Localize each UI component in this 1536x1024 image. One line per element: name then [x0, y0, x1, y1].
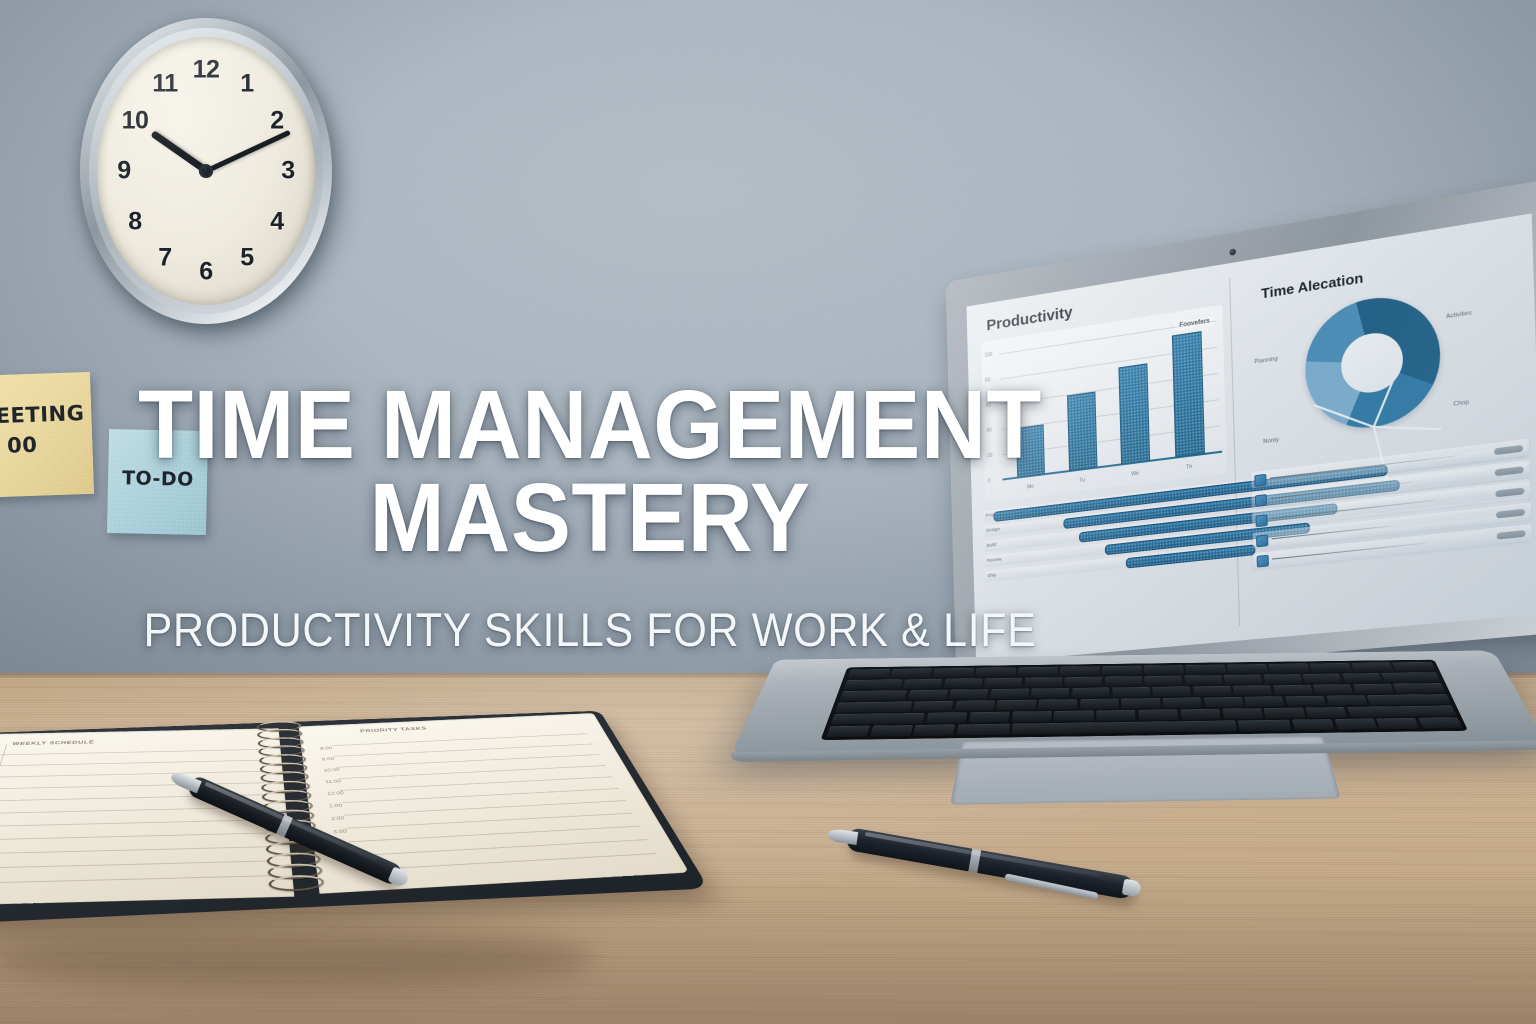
keyboard-key[interactable] [1285, 696, 1326, 707]
keyboard-key[interactable] [1065, 677, 1103, 687]
notebook-rule-line [0, 760, 262, 766]
keyboard-key[interactable] [1353, 684, 1394, 694]
keyboard-key[interactable] [1184, 675, 1223, 685]
keyboard-key[interactable] [1060, 666, 1100, 676]
notebook-time-label: 10:00 [323, 768, 340, 773]
keyboard-key[interactable] [1096, 710, 1136, 721]
keyboard-key[interactable] [1393, 662, 1436, 672]
keyboard-key[interactable] [1031, 688, 1070, 698]
keyboard-key[interactable] [912, 701, 953, 712]
checkbox-icon[interactable] [1256, 535, 1268, 548]
keyboard-key[interactable] [1393, 683, 1446, 693]
keyboard-key[interactable] [913, 725, 956, 736]
keyboard-key[interactable] [1342, 673, 1382, 683]
keyboard-key[interactable] [1080, 699, 1119, 710]
clock-face: 121234567891011 [97, 37, 315, 305]
keyboard-key[interactable] [1273, 685, 1313, 695]
laptop-keyboard[interactable] [821, 660, 1469, 740]
bar-chart-xtick: Th [1186, 464, 1192, 471]
keyboard-key[interactable] [1303, 674, 1343, 684]
notebook-time-label: 9:00 [322, 757, 335, 761]
notebook-rule-line [338, 765, 606, 779]
notebook-rule-line [346, 813, 633, 829]
keyboard-key[interactable] [948, 689, 988, 699]
wall-clock: 121234567891011 [80, 18, 342, 336]
keyboard-key[interactable] [943, 678, 982, 688]
keyboard-key[interactable] [1017, 667, 1057, 677]
keyboard-key[interactable] [1180, 709, 1221, 720]
keyboard-key[interactable] [1224, 675, 1263, 685]
keyboard-key[interactable] [990, 689, 1029, 699]
notebook-cover: WEEKLY SCHEDULE 8:009:0010:0011:0012:001… [0, 711, 709, 927]
donut-label: Activities [1446, 310, 1472, 320]
keyboard-key[interactable] [1367, 694, 1452, 705]
notebook-rule-line [349, 826, 641, 843]
checkbox-icon[interactable] [1255, 494, 1267, 507]
keyboard-key[interactable] [843, 679, 903, 689]
poster-title-line2: MASTERY [41, 471, 1138, 564]
donut-segment-divider [1313, 404, 1374, 428]
keyboard-key[interactable] [1351, 662, 1394, 672]
keyboard-key[interactable] [1102, 666, 1142, 676]
keyboard-key[interactable] [1162, 698, 1202, 709]
left-page-heading: WEEKLY SCHEDULE [12, 740, 95, 746]
keyboard-key[interactable] [831, 713, 926, 725]
keyboard-key[interactable] [890, 668, 932, 678]
task-badge [1495, 466, 1524, 476]
keyboard-key[interactable] [1227, 664, 1268, 674]
notebook-rule-line [342, 788, 619, 803]
right-page-heading: PRIORITY TASKS [360, 726, 428, 733]
notebook-time-label: 2:00 [331, 816, 345, 821]
keyboard-key[interactable] [1185, 665, 1226, 675]
keyboard-key[interactable] [1193, 686, 1232, 696]
keyboard-key[interactable] [1072, 688, 1110, 698]
notebook-time-label: 12:00 [327, 791, 344, 796]
keyboard-key[interactable] [1381, 672, 1440, 682]
task-text-placeholder [1272, 542, 1425, 560]
task-badge [1495, 487, 1524, 497]
keyboard-key[interactable] [903, 679, 943, 689]
notebook-shadow [0, 928, 595, 988]
keyboard-key[interactable] [926, 713, 968, 724]
keyboard-key[interactable] [870, 725, 913, 736]
keyboard-key[interactable] [1376, 718, 1420, 729]
keyboard-key[interactable] [1244, 697, 1285, 708]
checkbox-icon[interactable] [1257, 555, 1269, 568]
notebook-rule-line [0, 875, 270, 884]
notebook-rule-line [0, 846, 268, 854]
keyboard-key[interactable] [996, 700, 1036, 711]
notebook-rule-line [351, 839, 648, 856]
keyboard-key[interactable] [1264, 708, 1306, 719]
keyboard-key[interactable] [1203, 697, 1243, 708]
checkbox-icon[interactable] [1254, 474, 1266, 487]
keyboard-key[interactable] [1222, 708, 1263, 719]
keyboard-key[interactable] [1263, 674, 1302, 684]
task-badge [1496, 508, 1525, 518]
laptop-base [729, 650, 1536, 757]
poster-subtitle: PRODUCTIVITY SKILLS FOR WORK & LIFE [47, 602, 1133, 657]
notebook-time-label: 11:00 [325, 780, 342, 785]
poster-text-block: TIME MANAGEMENT MASTERY PRODUCTIVITY SKI… [0, 378, 1180, 657]
keyboard-key[interactable] [1292, 719, 1335, 730]
notebook-rule-line [344, 800, 626, 815]
donut-label: Nonty [1263, 437, 1279, 445]
keyboard-key[interactable] [932, 668, 974, 678]
donut-label: Chop [1453, 399, 1469, 408]
task-list[interactable] [1251, 439, 1534, 635]
notebook-time-label: 3:00 [333, 829, 347, 834]
left-page-column-rule [0, 745, 7, 896]
keyboard-key[interactable] [1313, 684, 1354, 694]
keyboard-key[interactable] [1305, 707, 1347, 718]
notebook-rule-line [340, 776, 612, 790]
keyboard-key[interactable] [1138, 710, 1178, 721]
keyboard-key[interactable] [956, 724, 1010, 736]
keyboard-key[interactable] [839, 690, 907, 701]
notebook-rule-line [0, 861, 269, 869]
task-text-placeholder [1271, 525, 1391, 540]
spiral-ring [268, 874, 325, 892]
keyboard-key[interactable] [1024, 677, 1062, 687]
keyboard-key[interactable] [1121, 698, 1160, 709]
keyboard-key[interactable] [907, 690, 948, 700]
notebook-rule-line [334, 744, 593, 757]
keyboard-key[interactable] [1238, 720, 1292, 731]
keyboard-key[interactable] [1334, 719, 1377, 730]
keyboard-key[interactable] [1105, 676, 1143, 686]
keyboard-key[interactable] [1144, 676, 1182, 686]
checkbox-icon[interactable] [1255, 514, 1267, 527]
task-badge [1494, 444, 1523, 454]
keyboard-key[interactable] [984, 678, 1023, 688]
keyboard-key[interactable] [1268, 664, 1310, 674]
donut-segment-divider [1374, 426, 1442, 430]
keyboard-key[interactable] [1112, 687, 1150, 697]
keyboard-key[interactable] [968, 712, 1009, 723]
keyboard-key[interactable] [835, 702, 912, 713]
notebook-rule-line [0, 833, 267, 841]
keyboard-key[interactable] [847, 669, 890, 679]
poster-title-line1: TIME MANAGEMENT [41, 378, 1138, 471]
keyboard-key[interactable] [1326, 695, 1368, 706]
keyboard-key[interactable] [1038, 699, 1077, 710]
donut-ring [1304, 288, 1442, 435]
donut-label: Planning [1254, 356, 1278, 366]
keyboard-key[interactable] [1153, 687, 1192, 697]
keyboard-key[interactable] [1418, 718, 1462, 729]
notebook-rule-line [0, 819, 266, 827]
keyboard-key[interactable] [1054, 711, 1094, 722]
keyboard-key[interactable] [1144, 665, 1184, 675]
notebook-time-label: 8:00 [320, 747, 333, 751]
notebook-rule-line [336, 754, 600, 767]
keyboard-key[interactable] [954, 700, 995, 711]
keyboard-key[interactable] [1011, 711, 1052, 722]
bar-chart-ytick: 100 [984, 352, 992, 359]
keyboard-key[interactable] [1233, 685, 1273, 695]
keyboard-key[interactable] [1012, 721, 1237, 735]
notebook-rule-line [0, 749, 262, 755]
keyboard-key[interactable] [1347, 706, 1457, 718]
keyboard-key[interactable] [826, 726, 870, 737]
notebook-rule-line [332, 733, 587, 746]
keyboard-key[interactable] [1310, 663, 1352, 673]
keyboard-key[interactable] [975, 667, 1016, 677]
planner-notebook: WEEKLY SCHEDULE 8:009:0010:0011:0012:001… [0, 718, 620, 988]
notebook-rule-line [0, 771, 263, 778]
poster-canvas: 121234567891011 MEETING 4: 00 TO-DO Prod… [0, 0, 1536, 1024]
task-badge [1497, 529, 1526, 539]
notebook-time-label: 1:00 [329, 804, 343, 809]
